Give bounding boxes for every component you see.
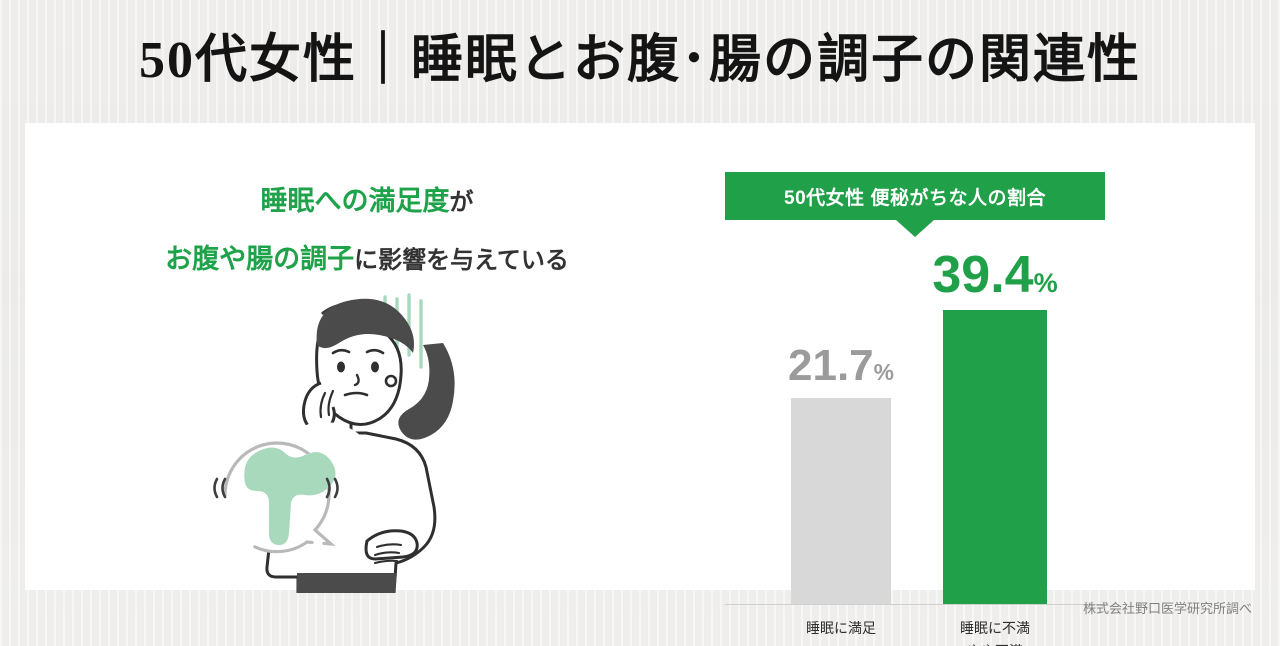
worried-woman-illustration xyxy=(185,283,605,593)
lead-highlight-2: お腹や腸の調子 xyxy=(165,244,354,274)
lead-copy: 睡眠への満足度が お腹や腸の調子に影響を与えている xyxy=(37,173,697,289)
bar-dissatisfied xyxy=(943,310,1047,604)
bar-value-1: 39.4% xyxy=(921,249,1069,301)
slide-root: 50代女性｜睡眠とお腹･腸の調子の関連性 睡眠への満足度が お腹や腸の調子に影響… xyxy=(0,0,1280,646)
lead-tail-1: が xyxy=(450,189,474,216)
eye-left xyxy=(337,362,345,373)
content-card: 睡眠への満足度が お腹や腸の調子に影響を与えている xyxy=(25,123,1255,590)
lead-line-1: 睡眠への満足度が xyxy=(37,173,697,231)
earring xyxy=(386,376,396,386)
bar-label-satisfied: 睡眠に満足 xyxy=(761,617,921,640)
eye-right xyxy=(371,362,379,373)
lead-highlight-1: 睡眠への満足度 xyxy=(261,186,450,216)
bar-value-1-unit: % xyxy=(1034,268,1058,298)
bar-label-dissatisfied: 睡眠に不満 やや不満 xyxy=(915,617,1075,646)
bar-value-0-unit: % xyxy=(874,359,894,385)
bar-satisfied xyxy=(791,398,891,604)
trousers xyxy=(297,573,397,593)
lead-line-2: お腹や腸の調子に影響を与えている xyxy=(37,231,697,289)
bar-value-0: 21.7% xyxy=(771,344,911,388)
bar-value-1-number: 39.4 xyxy=(932,246,1033,304)
bar-value-0-number: 21.7 xyxy=(788,341,874,390)
chart-baseline xyxy=(725,604,1105,605)
bar-chart-plot: 39.4% 21.7% 睡眠に満足 睡眠に不満 やや不満 xyxy=(725,151,1105,591)
lead-tail-2: に影響を与えている xyxy=(354,247,569,274)
ponytail xyxy=(398,343,454,440)
source-note: 株式会社野口医学研究所調べ xyxy=(1083,598,1252,617)
page-title: 50代女性｜睡眠とお腹･腸の調子の関連性 xyxy=(0,28,1280,94)
chart-block: 50代女性 便秘がちな人の割合 39.4% 21.7% 睡眠に満足 睡眠に不満 … xyxy=(725,151,1135,591)
